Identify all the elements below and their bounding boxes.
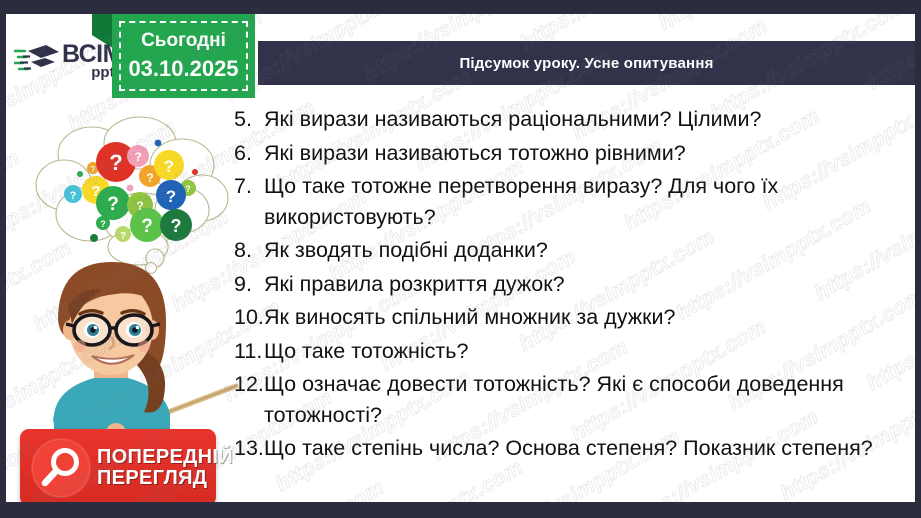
list-item-number: 11. [234,336,264,367]
svg-text:?: ? [134,150,141,164]
magnifier-icon [31,438,91,498]
list-item: 7. Що таке тотожне перетворення виразу? … [234,171,894,232]
list-item: 6. Які вирази називаються тотожно рівним… [234,138,894,169]
list-item-number: 13. [234,433,264,464]
list-item: 9. Які правила розкриття дужок? [234,269,894,300]
svg-text:?: ? [171,216,182,236]
preview-label-line2: ПЕРЕГЛЯД [97,468,233,489]
list-item-number: 5. [234,104,264,135]
slide-title-bar: Підсумок уроку. Усне опитування [258,41,915,85]
page-title: Підсумок уроку. Усне опитування [459,55,713,72]
svg-text:?: ? [141,216,153,237]
svg-text:?: ? [109,150,122,175]
svg-text:?: ? [136,199,143,213]
svg-text:?: ? [146,171,153,185]
list-item-text: Які правила розкриття дужок? [264,269,894,300]
slide-frame: ВСІМ pptx Сьогодні 03.10.2025 Підсумок у… [0,0,921,518]
list-item-text: Які вирази називаються тотожно рівними? [264,138,894,169]
svg-text:?: ? [91,183,100,200]
list-item-text: Як виносять спільний множник за дужки? [264,302,894,333]
graduation-cap-icon [14,41,60,81]
list-item-number: 10. [234,302,264,333]
list-item-text: Що означає довести тотожність? Які є спо… [264,369,894,430]
list-item-number: 6. [234,138,264,169]
svg-text:?: ? [185,184,191,194]
list-item-text: Які вирази називаються раціональними? Ці… [264,104,894,135]
list-item-number: 8. [234,235,264,266]
svg-text:?: ? [107,194,119,215]
today-label: Сьогодні [141,30,226,53]
list-item-text: Що таке тотожність? [264,336,894,367]
svg-text:?: ? [91,165,96,174]
today-date-badge: Сьогодні 03.10.2025 [112,14,255,98]
list-item: 8. Як зводять подібні доданки? [234,235,894,266]
svg-text:?: ? [164,157,174,176]
slide-canvas: ВСІМ pptx Сьогодні 03.10.2025 Підсумок у… [6,14,915,502]
preview-button[interactable]: ПОПЕРЕДНІЙ ПЕРЕГЛЯД [20,429,216,502]
preview-button-label: ПОПЕРЕДНІЙ ПЕРЕГЛЯД [97,447,233,489]
list-item: 13. Що таке степінь числа? Основа степен… [234,433,894,464]
list-item: 12. Що означає довести тотожність? Які є… [234,369,894,430]
svg-text:?: ? [120,231,126,242]
svg-text:?: ? [100,219,106,229]
list-item-text: Що таке степінь числа? Основа степеня? П… [264,433,894,464]
list-item-number: 7. [234,171,264,202]
preview-label-line1: ПОПЕРЕДНІЙ [97,447,233,468]
list-item: 11. Що таке тотожність? [234,336,894,367]
svg-text:?: ? [166,187,176,206]
today-date-value: 03.10.2025 [128,56,238,82]
list-item: 5. Які вирази називаються раціональними?… [234,104,894,135]
list-item-text: Як зводять подібні доданки? [264,235,894,266]
list-item-number: 9. [234,269,264,300]
list-item: 10. Як виносять спільний множник за дужк… [234,302,894,333]
list-item-number: 12. [234,369,264,400]
list-item-text: Що таке тотожне перетворення виразу? Для… [264,171,894,232]
question-list: 5. Які вирази називаються раціональними?… [234,104,894,467]
svg-text:?: ? [70,190,77,202]
